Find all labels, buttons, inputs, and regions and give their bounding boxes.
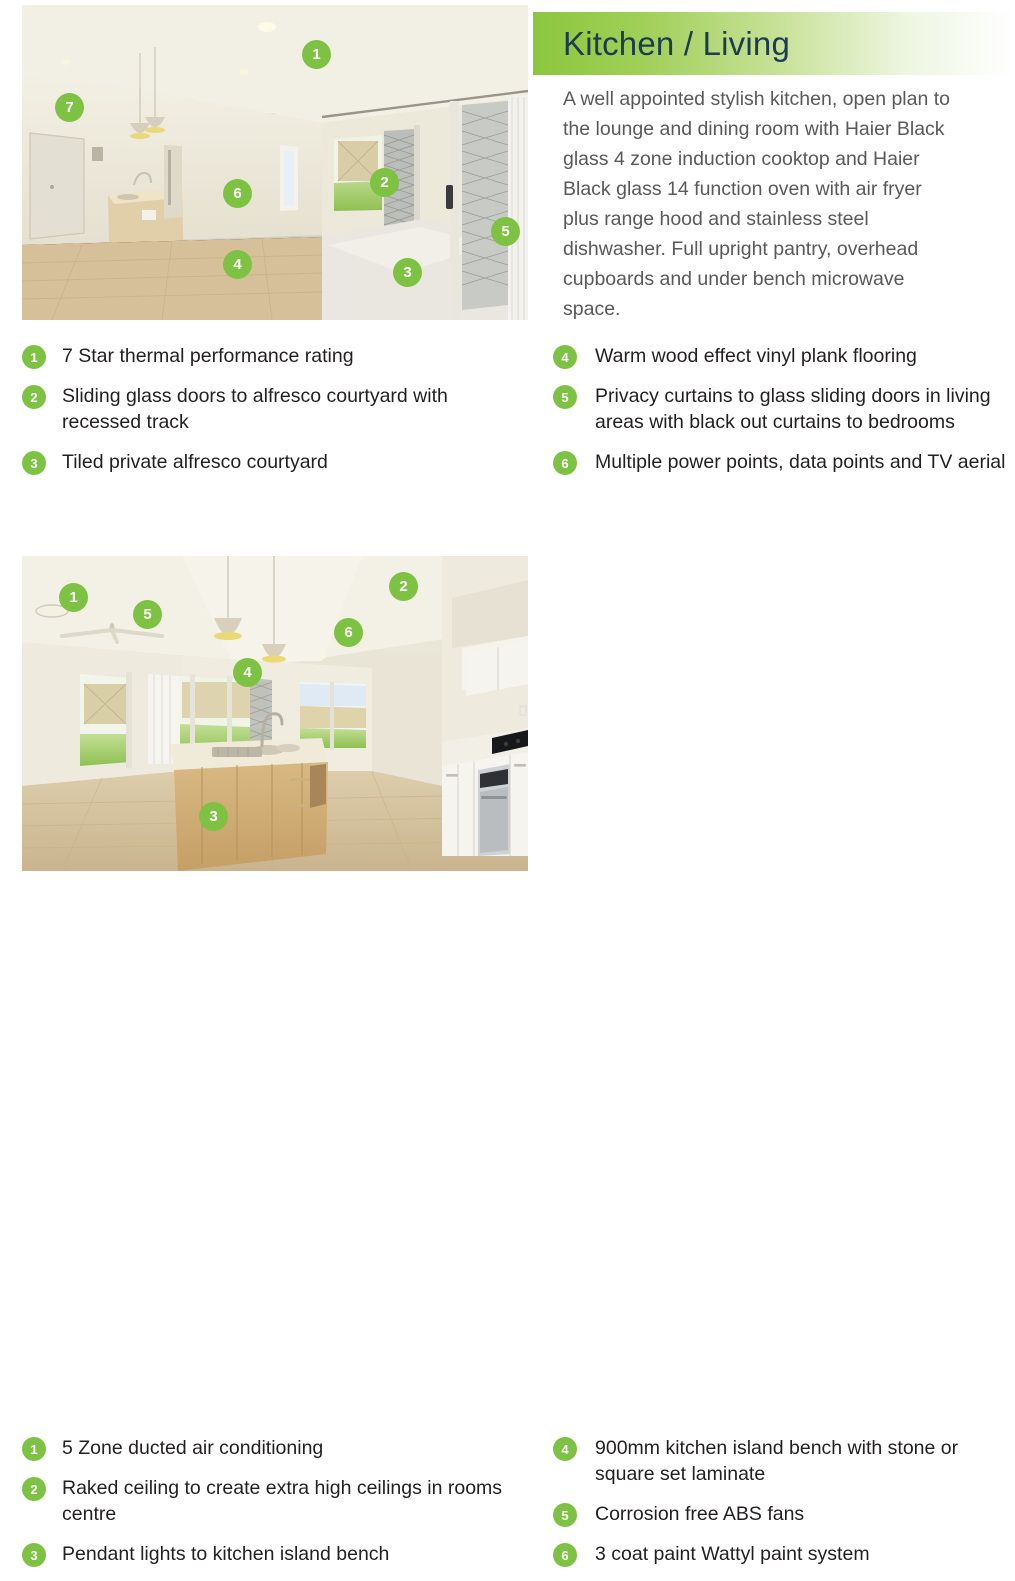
feature-list-left: 1 5 Zone ducted air conditioning 2 Raked… bbox=[22, 1435, 522, 1581]
feature-label: Tiled private alfresco courtyard bbox=[62, 449, 328, 475]
feature-number-badge: 4 bbox=[553, 1437, 577, 1461]
feature-number-badge: 2 bbox=[22, 1477, 46, 1501]
photo-marker: 6 bbox=[334, 618, 363, 647]
list-item: 5 Privacy curtains to glass sliding door… bbox=[553, 383, 1015, 435]
feature-label: Warm wood effect vinyl plank flooring bbox=[595, 343, 917, 369]
list-item: 2 Raked ceiling to create extra high cei… bbox=[22, 1475, 522, 1527]
feature-label: Privacy curtains to glass sliding doors … bbox=[595, 383, 1015, 435]
photo-marker: 1 bbox=[302, 40, 331, 69]
photo-marker: 4 bbox=[233, 658, 262, 687]
feature-label: Raked ceiling to create extra high ceili… bbox=[62, 1475, 522, 1527]
photo-marker: 5 bbox=[491, 217, 520, 246]
photo-marker: 5 bbox=[133, 600, 162, 629]
section-description: A well appointed stylish kitchen, open p… bbox=[563, 84, 953, 324]
section-header-bar: Kitchen / Living bbox=[533, 12, 1015, 75]
feature-list-right: 4 Warm wood effect vinyl plank flooring … bbox=[553, 343, 1015, 489]
feature-number-badge: 6 bbox=[553, 1543, 577, 1567]
list-item: 1 5 Zone ducted air conditioning bbox=[22, 1435, 522, 1461]
photo-marker: 6 bbox=[223, 179, 252, 208]
feature-label: Corrosion free ABS fans bbox=[595, 1501, 804, 1527]
feature-label: Multiple power points, data points and T… bbox=[595, 449, 1005, 475]
list-item: 3 Pendant lights to kitchen island bench bbox=[22, 1541, 522, 1567]
feature-number-badge: 1 bbox=[22, 1437, 46, 1461]
kitchen-photo: 1 5 2 6 4 3 bbox=[22, 556, 528, 871]
feature-number-badge: 3 bbox=[22, 451, 46, 475]
feature-label: 900mm kitchen island bench with stone or… bbox=[595, 1435, 1015, 1487]
photo-marker: 2 bbox=[389, 572, 418, 601]
feature-list-left: 1 7 Star thermal performance rating 2 Sl… bbox=[22, 343, 522, 489]
list-item: 6 Multiple power points, data points and… bbox=[553, 449, 1015, 475]
feature-number-badge: 1 bbox=[22, 345, 46, 369]
feature-number-badge: 5 bbox=[553, 1503, 577, 1527]
feature-number-badge: 4 bbox=[553, 345, 577, 369]
list-item: 6 3 coat paint Wattyl paint system bbox=[553, 1541, 1015, 1567]
feature-label: 3 coat paint Wattyl paint system bbox=[595, 1541, 870, 1567]
list-item: 4 Warm wood effect vinyl plank flooring bbox=[553, 343, 1015, 369]
list-item: 4 900mm kitchen island bench with stone … bbox=[553, 1435, 1015, 1487]
feature-label: Sliding glass doors to alfresco courtyar… bbox=[62, 383, 522, 435]
photo-marker: 2 bbox=[370, 168, 399, 197]
list-item: 2 Sliding glass doors to alfresco courty… bbox=[22, 383, 522, 435]
photo-marker: 3 bbox=[199, 802, 228, 831]
photo-marker: 1 bbox=[59, 583, 88, 612]
feature-label: Pendant lights to kitchen island bench bbox=[62, 1541, 389, 1567]
feature-number-badge: 5 bbox=[553, 385, 577, 409]
feature-number-badge: 3 bbox=[22, 1543, 46, 1567]
photo-marker: 4 bbox=[223, 250, 252, 279]
list-item: 5 Corrosion free ABS fans bbox=[553, 1501, 1015, 1527]
photo-marker: 3 bbox=[393, 258, 422, 287]
living-room-photo: 1 7 6 2 5 4 3 bbox=[22, 5, 528, 320]
list-item: 1 7 Star thermal performance rating bbox=[22, 343, 522, 369]
living-room-photo-image bbox=[22, 5, 528, 320]
feature-number-badge: 6 bbox=[553, 451, 577, 475]
kitchen-photo-image bbox=[22, 556, 528, 871]
page-title: Kitchen / Living bbox=[563, 25, 790, 63]
list-item: 3 Tiled private alfresco courtyard bbox=[22, 449, 522, 475]
feature-label: 5 Zone ducted air conditioning bbox=[62, 1435, 323, 1461]
feature-label: 7 Star thermal performance rating bbox=[62, 343, 354, 369]
photo-marker: 7 bbox=[55, 93, 84, 122]
feature-number-badge: 2 bbox=[22, 385, 46, 409]
feature-list-right: 4 900mm kitchen island bench with stone … bbox=[553, 1435, 1015, 1581]
